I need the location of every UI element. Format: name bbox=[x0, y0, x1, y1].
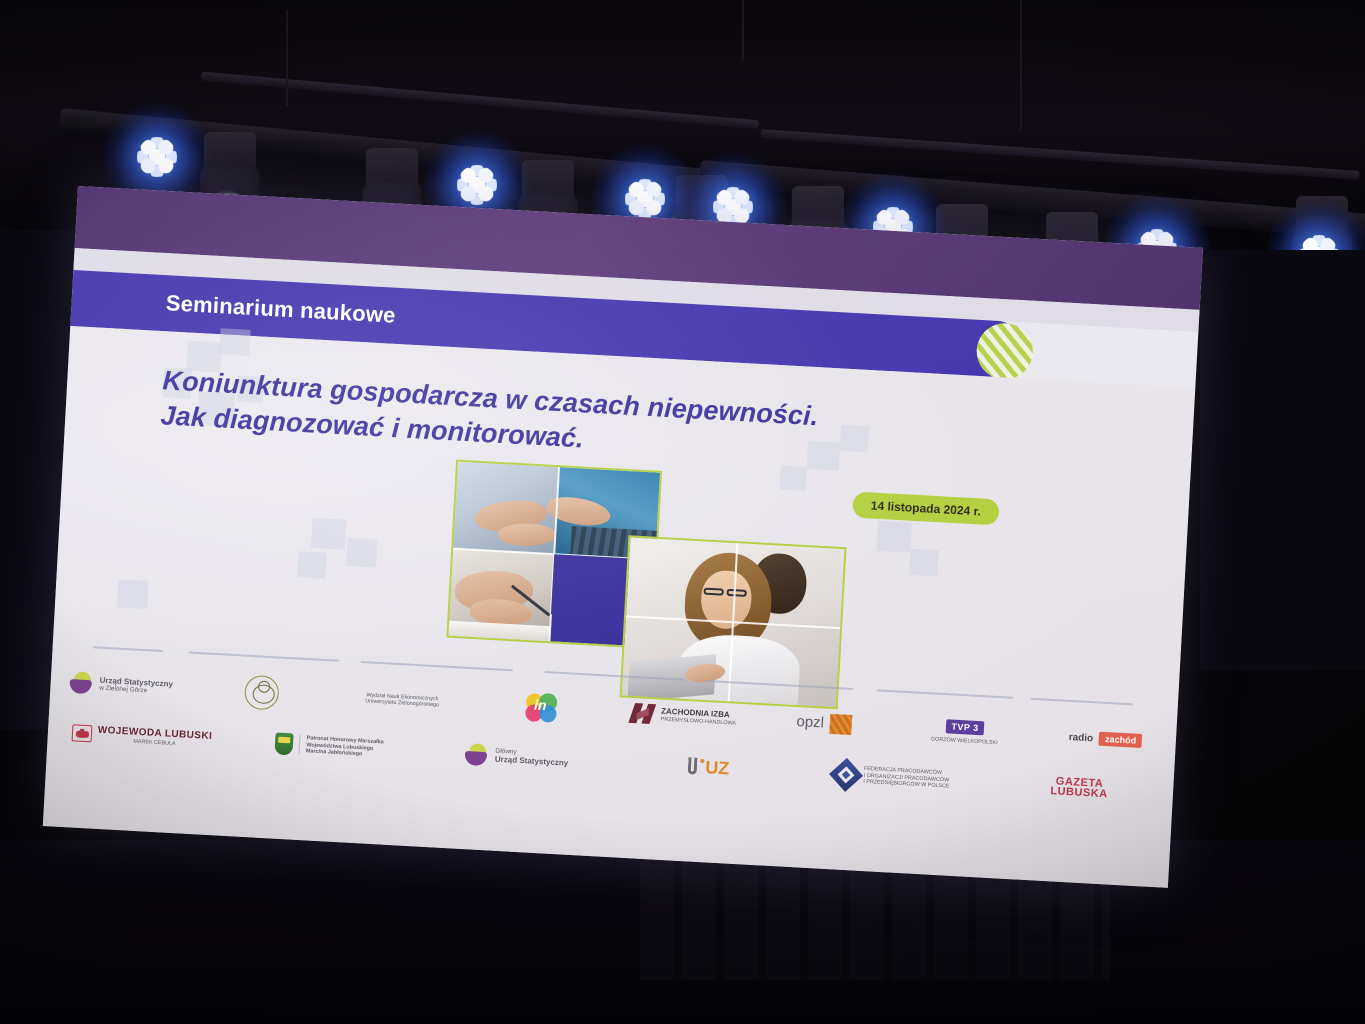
auditorium-scene bbox=[0, 0, 1365, 1024]
moving-head-fixture bbox=[1040, 212, 1104, 308]
blue-led-lamp bbox=[706, 180, 760, 234]
blue-led-lamp bbox=[618, 172, 672, 226]
blue-led-lamp bbox=[866, 200, 920, 254]
hanging-cable bbox=[286, 10, 288, 106]
side-curtain-left bbox=[0, 230, 80, 730]
blue-led-lamp bbox=[450, 158, 504, 212]
blue-led-lamp bbox=[130, 130, 184, 184]
seating-texture bbox=[640, 860, 1110, 980]
blue-led-lamp bbox=[1130, 222, 1184, 276]
hanging-cable bbox=[742, 0, 744, 60]
side-curtain-right bbox=[1200, 250, 1365, 670]
moving-head-fixture bbox=[360, 148, 424, 244]
hanging-cable bbox=[1020, 0, 1022, 130]
